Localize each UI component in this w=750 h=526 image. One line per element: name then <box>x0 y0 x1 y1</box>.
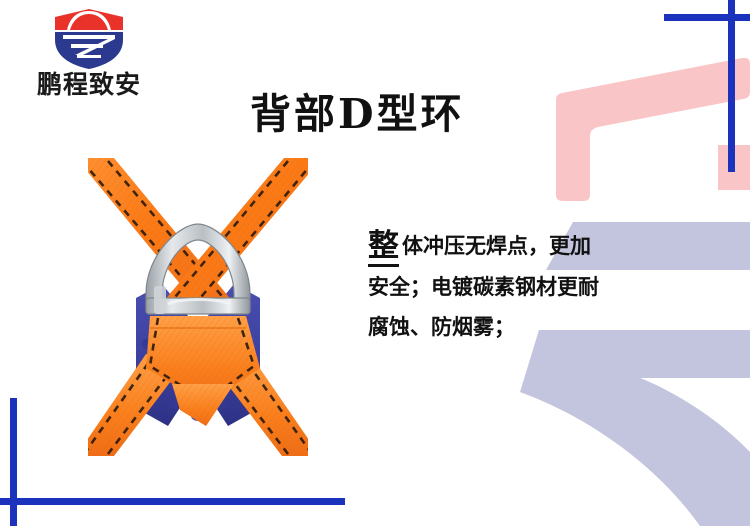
blue-horizontal-line-top <box>664 14 750 21</box>
blue-vertical-line-bottom <box>10 398 17 526</box>
brand-name: 鹏程致安 <box>14 72 164 98</box>
description-lead-char: 整 <box>368 229 399 267</box>
description-block: 整体冲压无焊点，更加 安全；电镀碳素钢材更耐 腐蚀、防烟雾； <box>368 226 668 347</box>
shield-logo-icon <box>53 8 125 70</box>
blue-horizontal-line-bottom <box>0 498 345 505</box>
page-title: 背部D型环 <box>250 92 465 137</box>
safety-harness-back-d-ring-photo <box>88 158 308 456</box>
lavender-two-shape-lower <box>520 330 750 526</box>
pink-square-right <box>718 145 750 190</box>
description-line-1: 整体冲压无焊点，更加 <box>368 226 668 267</box>
product-photo <box>88 158 308 456</box>
promo-banner: 鹏程致安 背部D型环 <box>0 0 750 526</box>
description-line-1-text: 体冲压无焊点，更加 <box>402 234 591 258</box>
blue-vertical-line-top <box>728 0 735 172</box>
pink-seven-shape <box>556 58 750 201</box>
description-line-2: 安全；电镀碳素钢材更耐 <box>368 267 668 307</box>
description-line-3: 腐蚀、防烟雾； <box>368 307 668 347</box>
brand-logo: 鹏程致安 <box>14 8 164 98</box>
